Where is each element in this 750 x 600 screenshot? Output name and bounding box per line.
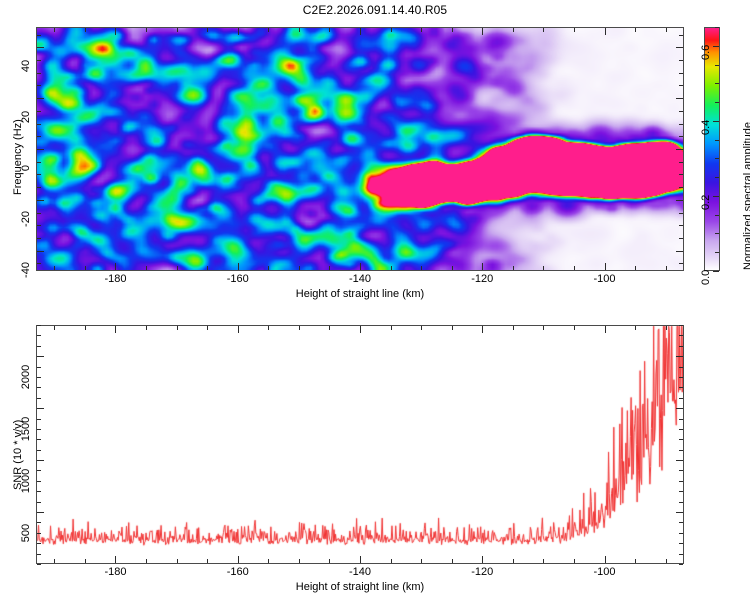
axis-tick bbox=[37, 543, 41, 544]
axis-tick bbox=[574, 28, 575, 32]
axis-tick bbox=[329, 559, 330, 563]
snr-line-plot bbox=[37, 326, 683, 563]
axis-tick bbox=[679, 346, 683, 347]
axis-tick bbox=[421, 28, 422, 32]
axis-tick bbox=[37, 470, 41, 471]
axis-tick bbox=[177, 28, 178, 32]
axis-tick bbox=[115, 556, 116, 563]
axis-tick bbox=[37, 136, 41, 137]
axis-tick bbox=[177, 559, 178, 563]
axis-tick bbox=[37, 149, 44, 150]
colorbar-tick-label: 0.2 bbox=[700, 195, 712, 210]
axis-tick bbox=[574, 559, 575, 563]
axis-tick bbox=[115, 28, 116, 35]
axis-tick bbox=[679, 263, 683, 264]
axis-tick bbox=[421, 266, 422, 270]
axis-tick bbox=[37, 367, 41, 368]
axis-tick bbox=[268, 559, 269, 563]
axis-tick bbox=[85, 28, 86, 32]
axis-tick bbox=[391, 28, 392, 32]
axis-tick-label: -140 bbox=[342, 273, 378, 285]
axis-tick-label: 0 bbox=[20, 148, 32, 188]
axis-tick bbox=[676, 512, 683, 513]
axis-tick bbox=[37, 450, 41, 451]
axis-tick bbox=[679, 124, 683, 125]
axis-tick bbox=[679, 470, 683, 471]
axis-tick bbox=[543, 28, 544, 32]
axis-tick-label: -160 bbox=[220, 566, 256, 578]
colorbar-tick bbox=[715, 27, 719, 28]
axis-tick bbox=[679, 85, 683, 86]
colorbar-tick bbox=[713, 46, 719, 47]
axis-tick bbox=[37, 564, 41, 565]
axis-tick bbox=[207, 326, 208, 330]
axis-tick bbox=[666, 559, 667, 563]
axis-tick bbox=[37, 533, 41, 534]
axis-tick bbox=[268, 266, 269, 270]
axis-tick bbox=[37, 512, 44, 513]
axis-tick bbox=[360, 326, 361, 333]
axis-tick bbox=[452, 559, 453, 563]
colorbar-tick bbox=[715, 65, 719, 66]
axis-tick bbox=[268, 326, 269, 330]
axis-tick bbox=[574, 266, 575, 270]
axis-tick bbox=[513, 266, 514, 270]
axis-tick bbox=[679, 60, 683, 61]
spectrogram-panel bbox=[36, 27, 684, 271]
axis-tick-label: -100 bbox=[587, 273, 623, 285]
axis-tick bbox=[37, 251, 44, 252]
axis-tick bbox=[676, 408, 683, 409]
axis-tick bbox=[635, 266, 636, 270]
axis-tick bbox=[37, 429, 41, 430]
axis-tick bbox=[85, 559, 86, 563]
axis-tick bbox=[329, 326, 330, 330]
axis-tick bbox=[360, 263, 361, 270]
axis-tick bbox=[676, 251, 683, 252]
axis-tick bbox=[177, 326, 178, 330]
axis-tick-label: 1000 bbox=[20, 459, 32, 503]
colorbar-tick-label: 0.4 bbox=[700, 120, 712, 135]
axis-tick bbox=[543, 559, 544, 563]
axis-tick-label: -180 bbox=[97, 273, 133, 285]
axis-tick bbox=[238, 326, 239, 333]
axis-tick bbox=[37, 238, 41, 239]
colorbar-tick bbox=[715, 140, 719, 141]
axis-tick bbox=[37, 200, 44, 201]
axis-tick-label: -120 bbox=[464, 566, 500, 578]
axis-tick bbox=[482, 326, 483, 333]
axis-tick-label: 500 bbox=[20, 511, 32, 555]
axis-tick bbox=[666, 266, 667, 270]
axis-tick bbox=[679, 429, 683, 430]
axis-tick bbox=[37, 111, 41, 112]
axis-tick bbox=[679, 162, 683, 163]
colorbar-tick bbox=[715, 83, 719, 84]
axis-tick bbox=[605, 28, 606, 35]
axis-tick bbox=[37, 162, 41, 163]
axis-tick bbox=[37, 124, 41, 125]
axis-tick-label: 20 bbox=[20, 97, 32, 137]
colorbar-tick bbox=[715, 233, 719, 234]
colorbar-tick bbox=[715, 177, 719, 178]
axis-tick bbox=[391, 266, 392, 270]
axis-tick bbox=[391, 559, 392, 563]
axis-tick bbox=[299, 266, 300, 270]
axis-tick bbox=[37, 377, 41, 378]
axis-tick bbox=[207, 266, 208, 270]
axis-tick bbox=[605, 556, 606, 563]
axis-tick bbox=[679, 73, 683, 74]
axis-tick bbox=[37, 174, 41, 175]
axis-tick bbox=[37, 73, 41, 74]
axis-tick bbox=[679, 187, 683, 188]
axis-tick-label: -160 bbox=[220, 273, 256, 285]
axis-tick bbox=[37, 502, 41, 503]
axis-tick bbox=[574, 326, 575, 330]
axis-tick bbox=[207, 559, 208, 563]
axis-tick bbox=[85, 326, 86, 330]
axis-tick bbox=[679, 367, 683, 368]
axis-tick bbox=[360, 28, 361, 35]
axis-tick bbox=[452, 326, 453, 330]
axis-tick bbox=[679, 213, 683, 214]
axis-tick bbox=[679, 543, 683, 544]
axis-tick bbox=[54, 266, 55, 270]
axis-tick bbox=[268, 28, 269, 32]
axis-tick-label: -100 bbox=[587, 566, 623, 578]
axis-tick bbox=[238, 28, 239, 35]
axis-tick bbox=[37, 213, 41, 214]
axis-tick bbox=[391, 326, 392, 330]
figure-root: C2E2.2026.091.14.40.R05 Frequency (Hz) H… bbox=[0, 0, 750, 600]
axis-tick bbox=[635, 559, 636, 563]
axis-tick-label: -180 bbox=[97, 566, 133, 578]
axis-tick bbox=[421, 559, 422, 563]
axis-tick bbox=[54, 28, 55, 32]
colorbar bbox=[704, 27, 720, 271]
axis-tick bbox=[679, 398, 683, 399]
axis-tick bbox=[679, 387, 683, 388]
axis-tick bbox=[679, 450, 683, 451]
colorbar-tick-label: 0.0 bbox=[700, 270, 712, 285]
snr-panel bbox=[36, 325, 684, 564]
colorbar-tick-label: 0.6 bbox=[700, 44, 712, 59]
spectrogram-image bbox=[37, 28, 683, 270]
colorbar-tick bbox=[715, 252, 719, 253]
axis-tick bbox=[679, 111, 683, 112]
axis-tick bbox=[146, 559, 147, 563]
snr-xlabel: Height of straight line (km) bbox=[36, 581, 684, 593]
axis-tick bbox=[679, 238, 683, 239]
axis-tick bbox=[676, 356, 683, 357]
axis-tick bbox=[238, 556, 239, 563]
axis-tick bbox=[635, 28, 636, 32]
axis-tick bbox=[676, 200, 683, 201]
axis-tick bbox=[115, 263, 116, 270]
axis-tick bbox=[177, 266, 178, 270]
axis-tick bbox=[146, 28, 147, 32]
axis-tick-label: 1500 bbox=[20, 407, 32, 451]
axis-tick bbox=[37, 408, 44, 409]
axis-tick bbox=[452, 266, 453, 270]
axis-tick bbox=[37, 47, 44, 48]
axis-tick bbox=[299, 28, 300, 32]
axis-tick bbox=[85, 266, 86, 270]
axis-tick bbox=[679, 564, 683, 565]
axis-tick bbox=[679, 554, 683, 555]
axis-tick bbox=[513, 28, 514, 32]
axis-tick bbox=[37, 522, 41, 523]
axis-tick bbox=[207, 28, 208, 32]
axis-tick bbox=[299, 559, 300, 563]
axis-tick bbox=[37, 554, 41, 555]
axis-tick bbox=[37, 60, 41, 61]
axis-tick bbox=[54, 326, 55, 330]
axis-tick bbox=[513, 326, 514, 330]
axis-tick bbox=[543, 266, 544, 270]
axis-tick bbox=[238, 263, 239, 270]
axis-tick bbox=[37, 263, 41, 264]
axis-tick bbox=[37, 325, 41, 326]
axis-tick bbox=[679, 419, 683, 420]
axis-tick bbox=[37, 346, 41, 347]
axis-tick bbox=[37, 398, 41, 399]
axis-tick bbox=[605, 263, 606, 270]
axis-tick bbox=[299, 326, 300, 330]
axis-tick bbox=[676, 98, 683, 99]
axis-tick bbox=[679, 439, 683, 440]
axis-tick bbox=[605, 326, 606, 333]
colorbar-label: Normalized spectral amplitude bbox=[742, 122, 750, 270]
axis-tick bbox=[37, 481, 41, 482]
colorbar-tick bbox=[715, 215, 719, 216]
axis-tick bbox=[543, 326, 544, 330]
axis-tick bbox=[676, 149, 683, 150]
colorbar-tick bbox=[715, 158, 719, 159]
axis-tick bbox=[37, 387, 41, 388]
axis-tick bbox=[679, 174, 683, 175]
colorbar-tick bbox=[713, 271, 719, 272]
axis-tick bbox=[679, 377, 683, 378]
axis-tick bbox=[679, 35, 683, 36]
axis-tick bbox=[146, 326, 147, 330]
axis-tick bbox=[115, 326, 116, 333]
axis-tick bbox=[482, 28, 483, 35]
axis-tick bbox=[679, 225, 683, 226]
axis-tick bbox=[679, 481, 683, 482]
colorbar-tick bbox=[713, 196, 719, 197]
axis-tick bbox=[37, 35, 41, 36]
axis-tick-label: -40 bbox=[20, 250, 32, 290]
axis-tick bbox=[54, 559, 55, 563]
colorbar-tick bbox=[713, 121, 719, 122]
axis-tick bbox=[666, 326, 667, 330]
axis-tick bbox=[37, 187, 41, 188]
axis-tick bbox=[329, 266, 330, 270]
axis-tick bbox=[329, 28, 330, 32]
axis-tick bbox=[37, 419, 41, 420]
axis-tick bbox=[421, 326, 422, 330]
axis-tick-label: -140 bbox=[342, 566, 378, 578]
axis-tick bbox=[37, 439, 41, 440]
axis-tick bbox=[679, 136, 683, 137]
axis-tick bbox=[635, 326, 636, 330]
axis-tick bbox=[482, 263, 483, 270]
axis-tick bbox=[679, 491, 683, 492]
figure-title: C2E2.2026.091.14.40.R05 bbox=[0, 3, 750, 17]
axis-tick bbox=[676, 460, 683, 461]
axis-tick bbox=[37, 335, 41, 336]
axis-tick-label: 2000 bbox=[20, 355, 32, 399]
axis-tick-label: -20 bbox=[20, 199, 32, 239]
axis-tick-label: 40 bbox=[20, 46, 32, 86]
axis-tick bbox=[37, 491, 41, 492]
axis-tick bbox=[513, 559, 514, 563]
axis-tick bbox=[679, 335, 683, 336]
colorbar-tick bbox=[715, 102, 719, 103]
spectrogram-xlabel: Height of straight line (km) bbox=[36, 288, 684, 300]
axis-tick bbox=[37, 356, 44, 357]
axis-tick bbox=[679, 533, 683, 534]
axis-tick-label: -120 bbox=[464, 273, 500, 285]
axis-tick bbox=[360, 556, 361, 563]
axis-tick bbox=[666, 28, 667, 32]
axis-tick bbox=[679, 522, 683, 523]
axis-tick bbox=[679, 325, 683, 326]
axis-tick bbox=[37, 85, 41, 86]
axis-tick bbox=[146, 266, 147, 270]
axis-tick bbox=[482, 556, 483, 563]
axis-tick bbox=[37, 460, 44, 461]
axis-tick bbox=[676, 47, 683, 48]
axis-tick bbox=[452, 28, 453, 32]
axis-tick bbox=[37, 225, 41, 226]
axis-tick bbox=[37, 98, 44, 99]
axis-tick bbox=[679, 502, 683, 503]
